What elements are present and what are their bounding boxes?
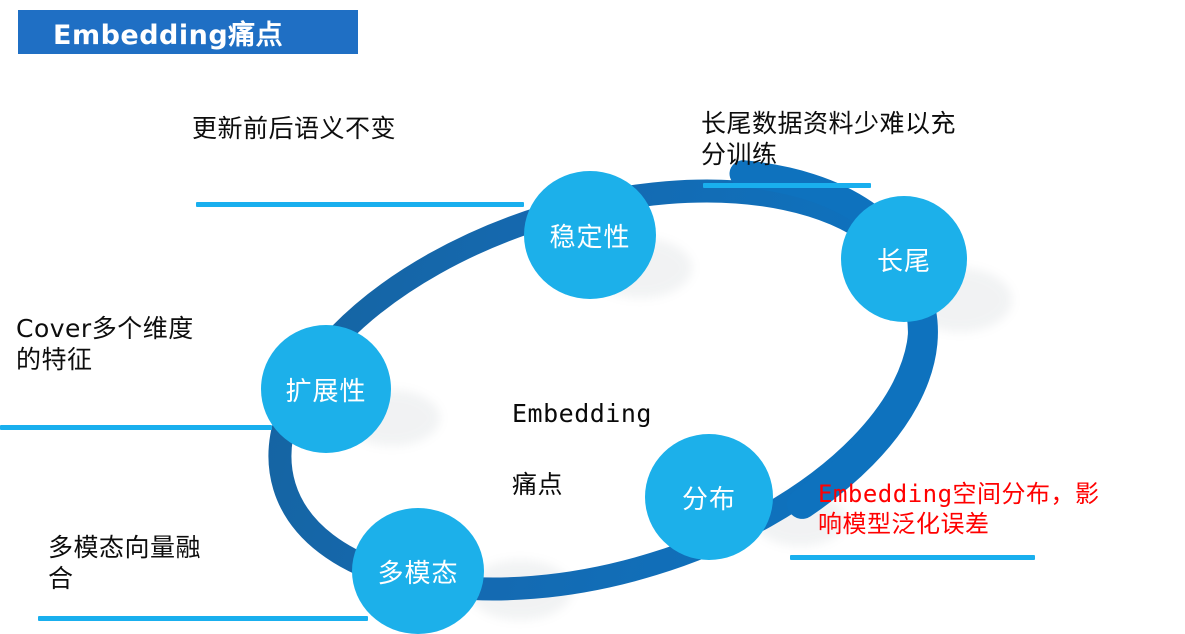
node-long-tail[interactable]: 长尾 <box>841 196 967 322</box>
annotation-distribution: Embedding空间分布，影 响模型泛化误差 <box>818 479 1178 539</box>
annotation-multimodal-underline <box>38 616 368 621</box>
slide-canvas: Embedding痛点 <box>0 0 1185 633</box>
annotation-stability: 更新前后语义不变 <box>192 113 522 144</box>
annotation-multimodal: 多模态向量融 合 <box>48 532 298 595</box>
node-scalability[interactable]: 扩展性 <box>261 325 391 453</box>
annotation-long-tail: 长尾数据资料少难以充 分训练 <box>701 108 1051 171</box>
annotation-stability-underline <box>196 202 524 207</box>
annotation-scalability: Cover多个维度 的特征 <box>16 313 276 376</box>
center-label: Embedding 痛点 <box>512 360 652 538</box>
center-label-line1: Embedding <box>512 396 652 432</box>
node-scalability-label: 扩展性 <box>285 371 366 408</box>
node-stability[interactable]: 稳定性 <box>524 171 656 299</box>
node-stability-label: 稳定性 <box>549 217 630 254</box>
annotation-scalability-underline <box>0 425 272 430</box>
center-label-line2: 痛点 <box>512 467 652 503</box>
annotation-long-tail-underline <box>703 183 871 188</box>
annotation-distribution-underline <box>790 555 1035 560</box>
node-distribution[interactable]: 分布 <box>645 434 773 560</box>
node-distribution-label: 分布 <box>682 479 736 516</box>
node-multimodal[interactable]: 多模态 <box>352 508 484 634</box>
node-multimodal-label: 多模态 <box>377 553 458 590</box>
node-long-tail-label: 长尾 <box>877 241 931 278</box>
